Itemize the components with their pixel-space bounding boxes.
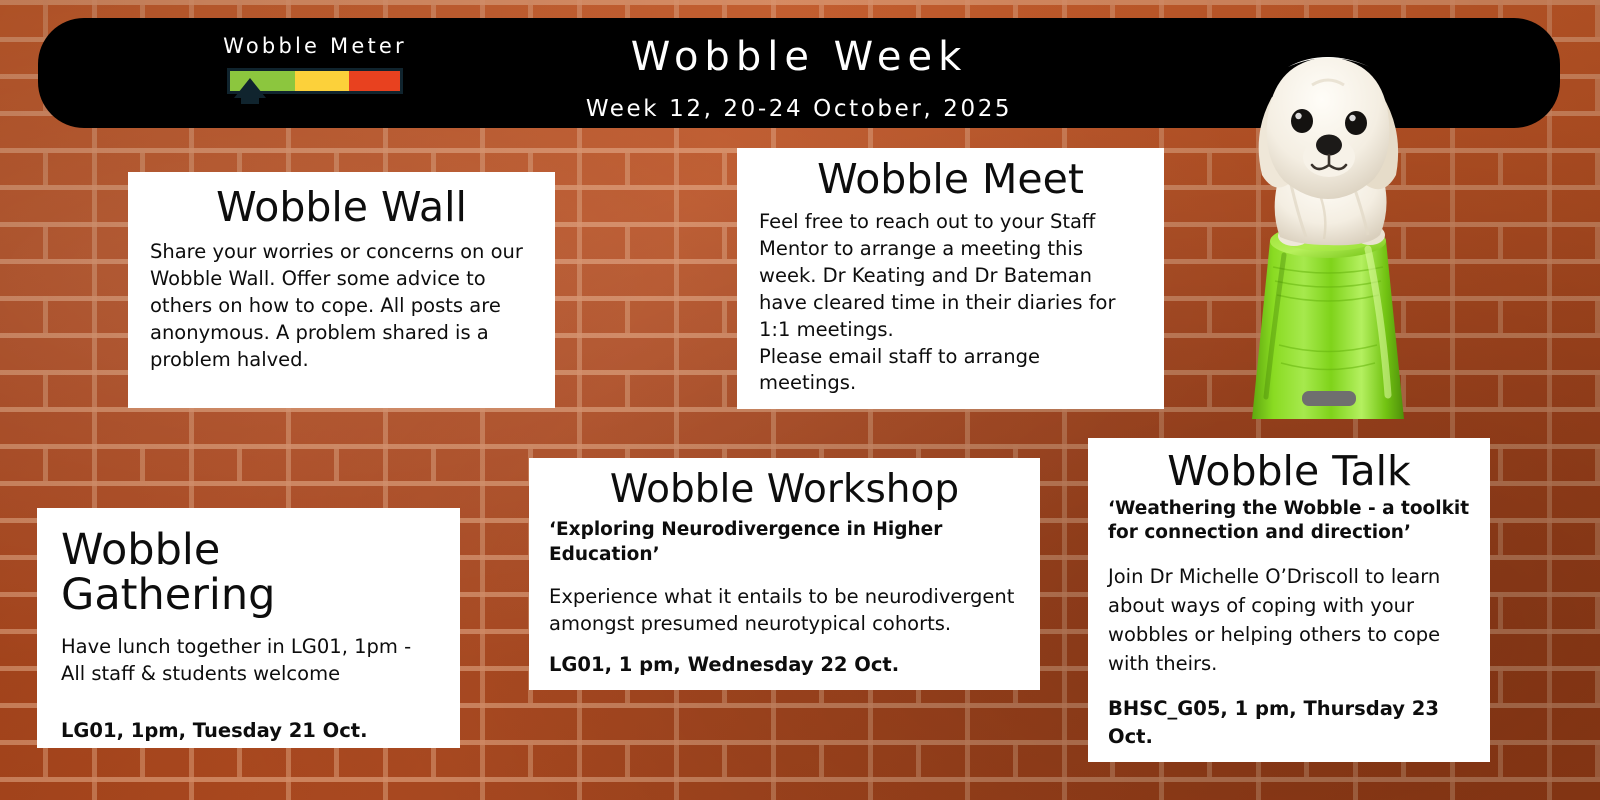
dog-left-eye	[1291, 109, 1313, 133]
card-talk-body: Join Dr Michelle O’Driscoll to learn abo…	[1108, 563, 1470, 678]
card-workshop-title: Wobble Workshop	[549, 470, 1020, 511]
card-talk-title: Wobble Talk	[1108, 450, 1470, 493]
card-wobble-talk: Wobble Talk ‘Weathering the Wobble - a t…	[1088, 438, 1490, 762]
card-wall-body: Share your worries or concerns on our Wo…	[150, 239, 533, 374]
card-wobble-gathering: Wobble Gathering Have lunch together in …	[37, 508, 460, 748]
card-wall-title: Wobble Wall	[150, 186, 533, 229]
card-gathering-title: Wobble Gathering	[61, 528, 436, 618]
card-talk-subtitle: ‘Weathering the Wobble - a toolkit for c…	[1108, 497, 1470, 545]
card-wobble-wall: Wobble Wall Share your worries or concer…	[128, 172, 555, 408]
card-gathering-body: Have lunch together in LG01, 1pm - All s…	[61, 634, 436, 688]
green-stool	[1252, 224, 1404, 419]
card-workshop-subtitle: ‘Exploring Neurodivergence in Higher Edu…	[549, 517, 1020, 568]
card-workshop-details: LG01, 1 pm, Wednesday 22 Oct.	[549, 652, 1020, 679]
card-meet-body: Feel free to reach out to your Staff Men…	[759, 209, 1142, 344]
card-workshop-body: Experience what it entails to be neurodi…	[549, 584, 1020, 638]
card-wobble-meet: Wobble Meet Feel free to reach out to yo…	[737, 148, 1164, 409]
card-meet-body-2: Please email staff to arrange meetings.	[759, 344, 1142, 398]
card-wobble-workshop: Wobble Workshop ‘Exploring Neurodivergen…	[529, 458, 1040, 690]
card-gathering-details: LG01, 1pm, Tuesday 21 Oct.	[61, 718, 436, 745]
dog-right-eye	[1345, 111, 1367, 135]
card-meet-title: Wobble Meet	[759, 158, 1142, 201]
card-talk-details: BHSC_G05, 1 pm, Thursday 23 Oct.	[1108, 695, 1470, 753]
dog-head	[1267, 57, 1390, 199]
dog-nose	[1316, 135, 1342, 156]
dog-on-stool-photo	[1228, 45, 1428, 425]
stool-handle-slot	[1302, 391, 1356, 406]
